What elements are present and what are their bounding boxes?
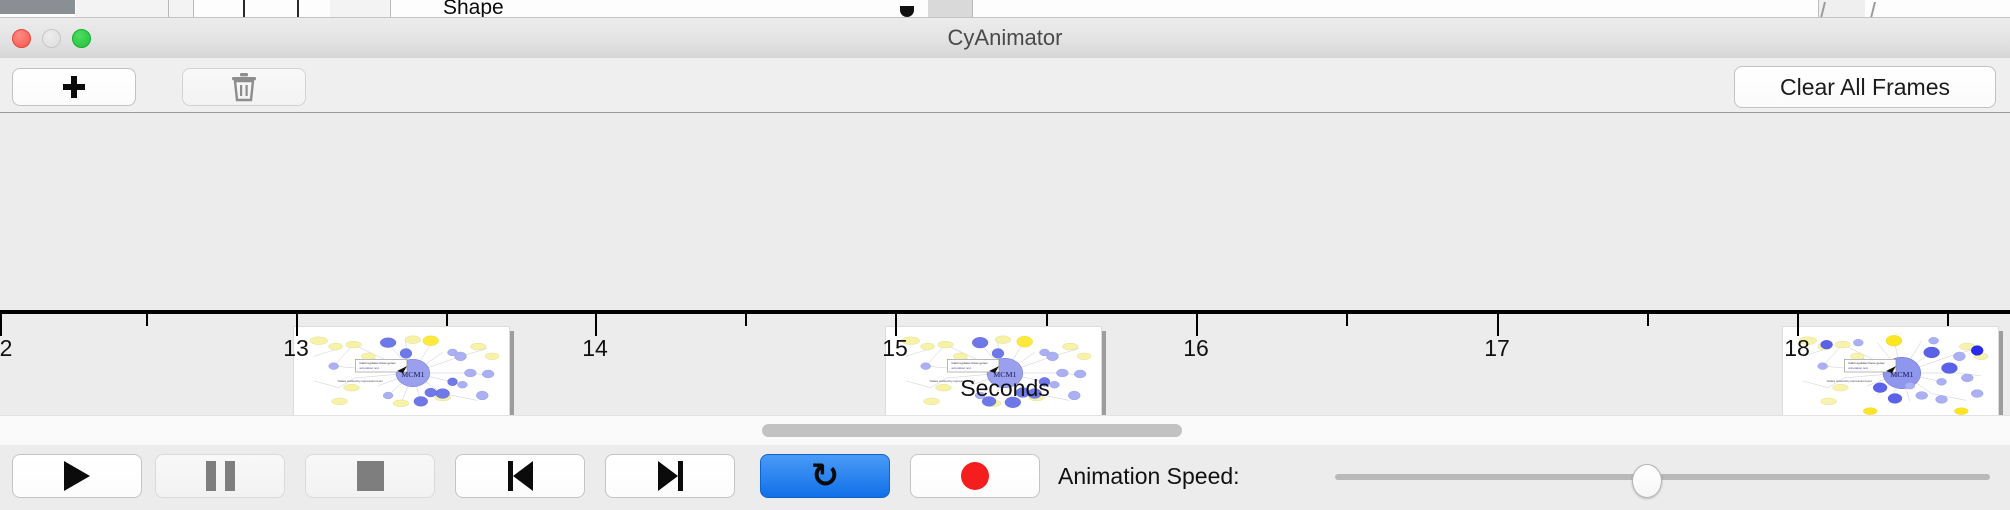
axis-label: 2 (0, 335, 12, 362)
stop-button[interactable] (305, 454, 435, 498)
axis-title: Seconds (0, 375, 2010, 402)
axis-tick-minor (1046, 314, 1048, 326)
background-window-segment (169, 0, 194, 17)
background-window-dark-segment (0, 0, 75, 14)
pause-button[interactable] (155, 454, 285, 498)
timeline-canvas[interactable]: MCM1 (0, 113, 2010, 415)
axis-label: 17 (1484, 335, 1510, 362)
svg-text:annotation text: annotation text (1848, 366, 1868, 370)
add-frame-button[interactable] (12, 68, 136, 106)
axis-label: 15 (882, 335, 908, 362)
plus-icon (63, 76, 85, 98)
stop-icon (357, 461, 384, 491)
skip-back-icon (508, 461, 533, 491)
axis-label: 18 (1784, 335, 1810, 362)
axis-tick-major (296, 314, 298, 336)
axis-tick-minor (1947, 314, 1949, 326)
background-window-segment (330, 0, 391, 17)
background-slash (1870, 2, 1876, 18)
scrollbar-thumb[interactable] (762, 424, 1182, 437)
loop-icon: ↻ (811, 459, 840, 493)
svg-text:annotation text: annotation text (951, 366, 971, 370)
axis-tick-major (1196, 314, 1198, 336)
axis-label: 13 (283, 335, 309, 362)
axis-tick-major (1497, 314, 1499, 336)
play-icon (64, 461, 90, 491)
skip-forward-button[interactable] (605, 454, 735, 498)
window-title: CyAnimator (0, 18, 2010, 58)
play-button[interactable] (12, 454, 142, 498)
axis-tick-major (0, 314, 2, 336)
background-window-segment (76, 0, 169, 17)
animation-speed-label: Animation Speed: (1058, 454, 1240, 498)
background-window-segment (928, 0, 973, 17)
skip-forward-icon (658, 461, 683, 491)
loop-button[interactable]: ↻ (760, 454, 890, 498)
axis-tick-major (595, 314, 597, 336)
background-tick (297, 0, 299, 17)
animation-speed-slider-thumb[interactable] (1632, 464, 1662, 498)
axis-tick-minor (1647, 314, 1649, 326)
axis-tick-minor (446, 314, 448, 326)
background-tick (243, 0, 245, 17)
svg-text:Gal4 regulates these genes: Gal4 regulates these genes (1848, 361, 1885, 365)
svg-text:Gal4 regulates these genes: Gal4 regulates these genes (951, 361, 988, 365)
timeline-axis (0, 310, 2010, 314)
record-icon (961, 462, 989, 490)
axis-label: 16 (1183, 335, 1209, 362)
animation-speed-slider[interactable] (1335, 474, 1990, 480)
background-window-strip: Shape (0, 0, 2010, 18)
toolbar: Clear All Frames (0, 58, 2010, 113)
skip-back-button[interactable] (455, 454, 585, 498)
pause-icon (206, 461, 235, 491)
axis-tick-major (895, 314, 897, 336)
axis-label: 14 (582, 335, 608, 362)
background-blob (900, 6, 914, 17)
background-shape-label: Shape (443, 0, 504, 18)
clear-all-frames-button[interactable]: Clear All Frames (1734, 66, 1996, 108)
playback-bar: ↻ Animation Speed: (0, 445, 2010, 510)
timeline-scrollbar[interactable] (0, 415, 2010, 446)
axis-tick-minor (745, 314, 747, 326)
trash-icon (231, 72, 257, 102)
title-bar: CyAnimator (0, 18, 2010, 59)
axis-tick-minor (146, 314, 148, 326)
axis-tick-major (1797, 314, 1799, 336)
svg-text:annotation text: annotation text (359, 366, 379, 370)
delete-frame-button[interactable] (182, 68, 306, 106)
record-button[interactable] (910, 454, 1040, 498)
svg-text:Gal4 regulates these genes: Gal4 regulates these genes (359, 361, 396, 365)
cyanimator-window: Shape CyAnimator Clear Al (0, 0, 2010, 510)
axis-tick-minor (1346, 314, 1348, 326)
